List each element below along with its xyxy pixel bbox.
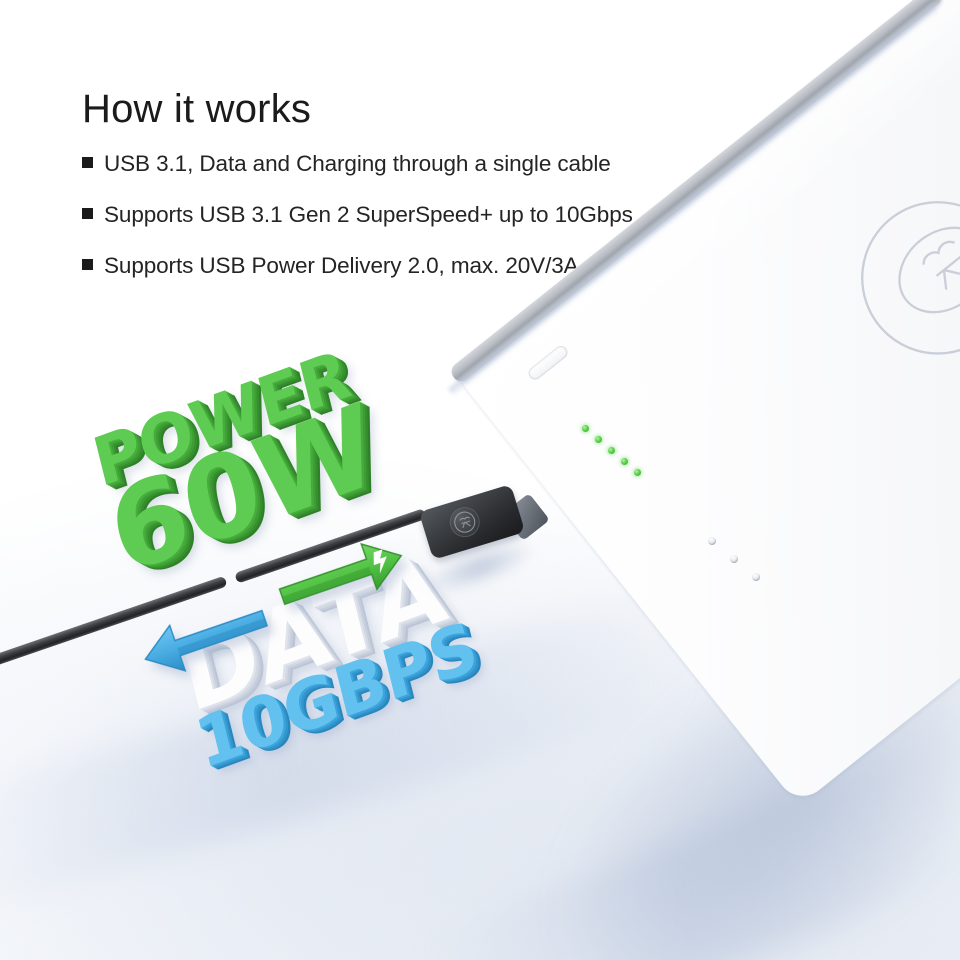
laptop-lid <box>450 0 960 806</box>
rail-hole-3 <box>752 573 760 581</box>
laptop <box>430 250 960 960</box>
led-indicator-5 <box>634 469 641 476</box>
power-callout: POWER 60W <box>88 341 386 587</box>
rail-hole-1 <box>708 537 716 545</box>
led-indicator-1 <box>582 425 589 432</box>
infographic-canvas: How it works USB 3.1, Data and Charging … <box>0 0 960 960</box>
rail-hole-2 <box>730 555 738 563</box>
led-indicator-3 <box>608 447 615 454</box>
led-indicator-2 <box>595 436 602 443</box>
propeller-logo-icon <box>446 503 483 540</box>
product-scene: DATA 10GBPS POWER 60W <box>0 0 960 960</box>
led-indicator-4 <box>621 458 628 465</box>
